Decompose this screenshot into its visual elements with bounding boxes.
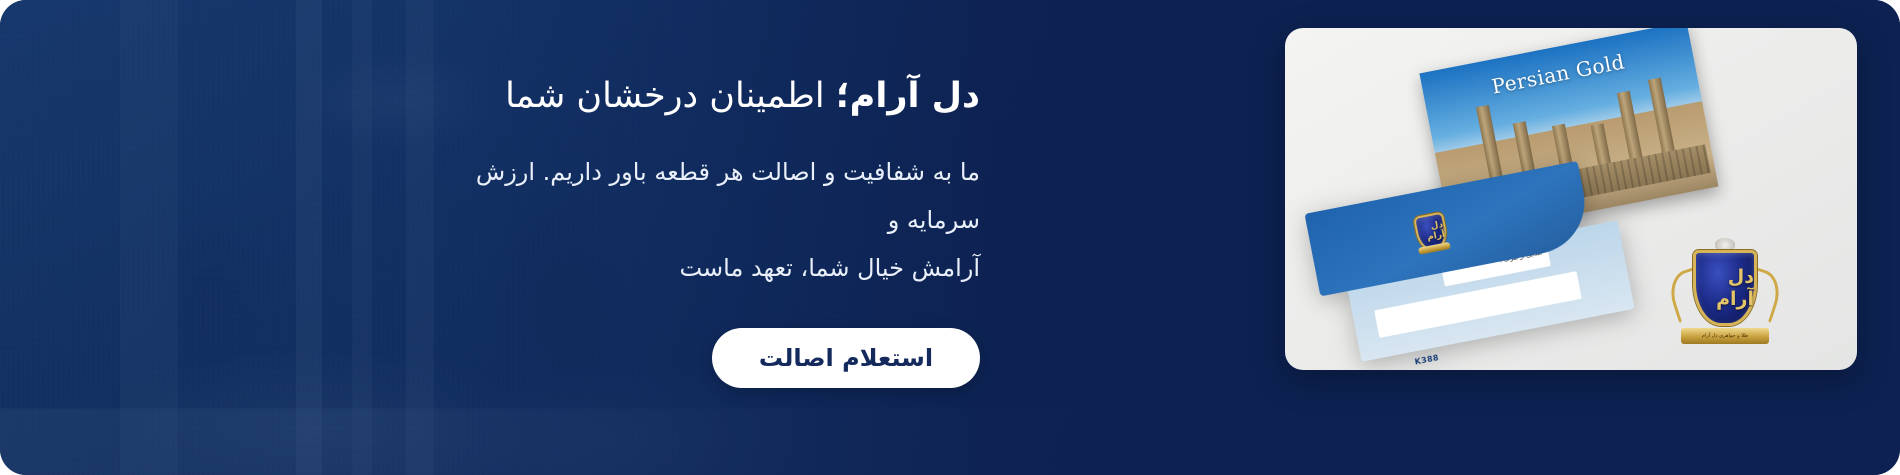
subcopy-line-1: ما به شفافیت و اصالت هر قطعه باور داریم.… bbox=[476, 158, 980, 234]
product-photo-card: Persian Gold اهدایی از طرف : K388 دل آرا… bbox=[1285, 28, 1857, 370]
envelope-crest-icon: دل آرام bbox=[1411, 209, 1452, 255]
gift-envelope: اهدایی از طرف : K388 دل آرام bbox=[1304, 161, 1607, 369]
envelope-white-slip bbox=[1374, 271, 1581, 338]
cta-row: استعلام اصالت bbox=[420, 328, 980, 388]
delaram-brand-crest-icon: دل آرام طلا و جواهری دل آرام bbox=[1669, 236, 1781, 354]
headline-brand: دل آرام؛ bbox=[836, 76, 980, 116]
crest-shield-icon: دل آرام bbox=[1693, 250, 1757, 326]
authenticity-inquiry-button[interactable]: استعلام اصالت bbox=[712, 328, 980, 388]
hero-headline: دل آرام؛ اطمینان درخشان شما bbox=[420, 72, 980, 122]
crest-shield-text: دل آرام bbox=[1696, 253, 1754, 323]
hero-subcopy: ما به شفافیت و اصالت هر قطعه باور داریم.… bbox=[420, 148, 980, 292]
crest-ribbon-text: طلا و جواهری دل آرام bbox=[1681, 328, 1769, 344]
crest-ribbon: طلا و جواهری دل آرام bbox=[1681, 328, 1769, 344]
headline-rest: اطمینان درخشان شما bbox=[505, 76, 836, 116]
envelope-code: K388 bbox=[1414, 353, 1440, 367]
crest-crown-icon bbox=[1715, 238, 1735, 250]
hero-copy: دل آرام؛ اطمینان درخشان شما ما به شفافیت… bbox=[420, 72, 980, 388]
subcopy-line-2: آرامش خیال شما، تعهد ماست bbox=[679, 254, 980, 282]
hero-banner: دل آرام؛ اطمینان درخشان شما ما به شفافیت… bbox=[0, 0, 1900, 475]
